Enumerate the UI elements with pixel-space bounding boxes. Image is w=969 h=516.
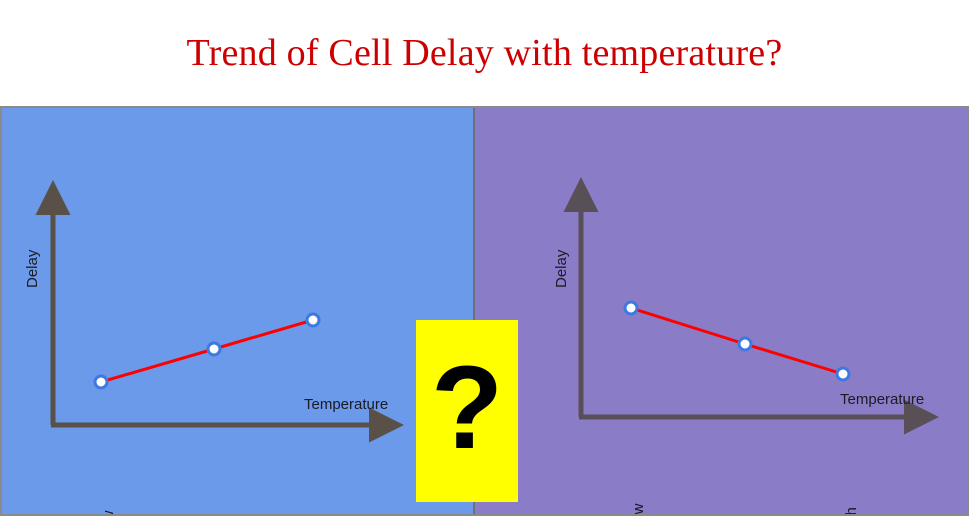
page-title: Trend of Cell Delay with temperature?: [187, 34, 783, 72]
slide-canvas: Trend of Cell Delay with temperature?: [0, 0, 969, 516]
x-tick-label-high: High: [843, 507, 860, 514]
x-tick-label-low: Low: [100, 510, 117, 514]
comparison-panels: Delay Temperature Low Typical High: [0, 106, 969, 516]
data-point-high: [837, 368, 849, 380]
question-mark-badge: ?: [416, 320, 518, 502]
panel-decreasing-trend: Delay Temperature Low Typical High: [473, 108, 967, 514]
data-point-low: [625, 302, 637, 314]
panel-increasing-trend: Delay Temperature Low Typical High: [2, 108, 473, 514]
data-point-high: [307, 314, 319, 326]
chart-decreasing: [475, 108, 967, 514]
series-line: [631, 308, 843, 374]
y-axis-title: Delay: [24, 250, 41, 288]
x-axis-title: Temperature: [840, 391, 924, 408]
title-bar: Trend of Cell Delay with temperature?: [0, 0, 969, 106]
question-mark-icon: ?: [431, 349, 503, 467]
data-point-low: [95, 376, 107, 388]
data-point-typical: [208, 343, 220, 355]
y-axis-title: Delay: [553, 250, 570, 288]
data-point-typical: [739, 338, 751, 350]
x-axis-title: Temperature: [304, 396, 388, 413]
chart-increasing: [2, 108, 473, 514]
chart-increasing-svg: [2, 108, 473, 514]
x-tick-label-low: Low: [630, 503, 647, 514]
chart-decreasing-svg: [475, 108, 967, 514]
